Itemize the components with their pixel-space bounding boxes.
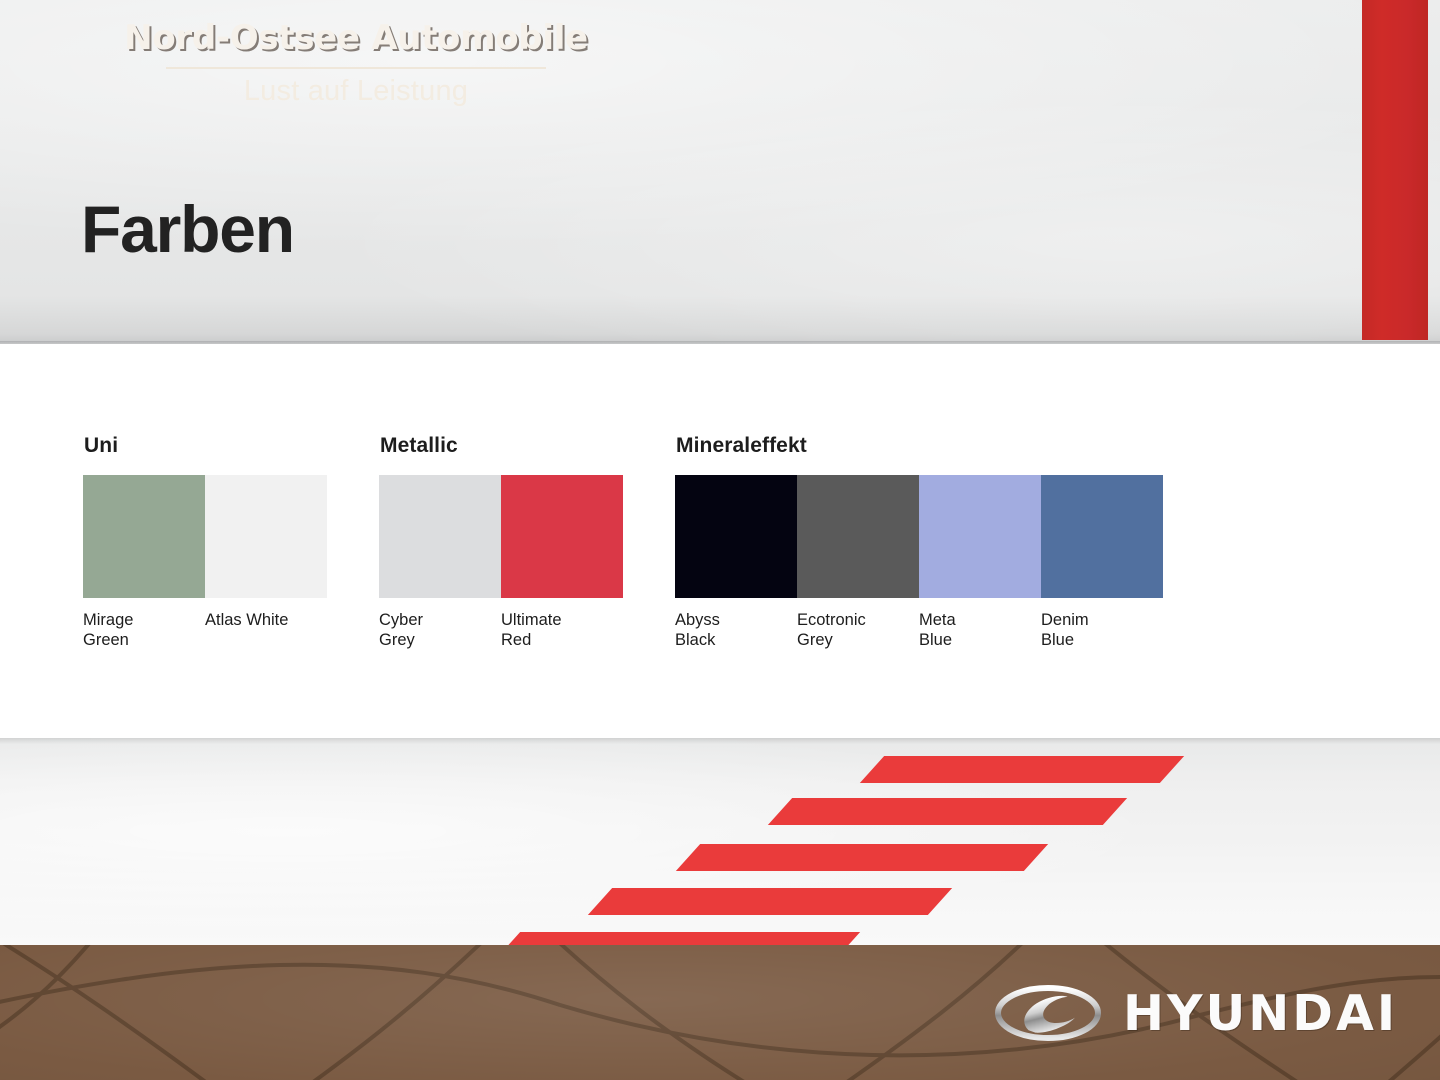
color-name: Ultimate Red bbox=[501, 610, 623, 650]
swatch-item[interactable]: Denim Blue bbox=[1041, 475, 1163, 650]
color-chip[interactable] bbox=[501, 475, 623, 598]
color-chip[interactable] bbox=[797, 475, 919, 598]
dealer-divider bbox=[166, 67, 546, 69]
header-accent-bar bbox=[1362, 0, 1428, 340]
dealer-logo: Nord-Ostsee Automobile Lust auf Leistung bbox=[66, 18, 646, 108]
dealer-name: Nord-Ostsee Automobile bbox=[66, 18, 646, 58]
color-name: Abyss Black bbox=[675, 610, 797, 650]
lower-band bbox=[0, 738, 1440, 945]
color-group-metallic: Metallic Cyber Grey Ultimate Red bbox=[379, 434, 623, 650]
group-title: Metallic bbox=[380, 434, 623, 458]
swatch-row: Mirage Green Atlas White bbox=[83, 475, 327, 650]
color-name: Denim Blue bbox=[1041, 610, 1163, 650]
color-name: Atlas White bbox=[205, 610, 327, 630]
slide-root: Farben Uni Mirage Green Atlas White bbox=[0, 0, 1440, 1080]
color-groups: Uni Mirage Green Atlas White Metallic bbox=[83, 434, 1163, 650]
group-title: Uni bbox=[84, 434, 327, 458]
swatch-row: Cyber Grey Ultimate Red bbox=[379, 475, 623, 650]
color-group-uni: Uni Mirage Green Atlas White bbox=[83, 434, 327, 650]
lower-band-sheen bbox=[0, 738, 1440, 945]
swatch-row: Abyss Black Ecotronic Grey Meta Blue Den… bbox=[675, 475, 1163, 650]
color-chip[interactable] bbox=[1041, 475, 1163, 598]
color-chip[interactable] bbox=[379, 475, 501, 598]
color-chip[interactable] bbox=[675, 475, 797, 598]
dealer-tagline: Lust auf Leistung bbox=[66, 75, 646, 108]
swatch-item[interactable]: Cyber Grey bbox=[379, 475, 501, 650]
color-name: Mirage Green bbox=[83, 610, 205, 650]
color-chip[interactable] bbox=[205, 475, 327, 598]
group-title: Mineraleffekt bbox=[676, 434, 1163, 458]
color-name: Meta Blue bbox=[919, 610, 1041, 650]
color-name: Ecotronic Grey bbox=[797, 610, 919, 650]
swatch-item[interactable]: Abyss Black bbox=[675, 475, 797, 650]
color-chip[interactable] bbox=[83, 475, 205, 598]
content-area: Uni Mirage Green Atlas White Metallic bbox=[0, 344, 1440, 738]
swatch-item[interactable]: Atlas White bbox=[205, 475, 327, 650]
hyundai-wordmark: HYUNDAI bbox=[1123, 989, 1398, 1038]
hyundai-emblem-icon bbox=[995, 985, 1101, 1041]
swatch-item[interactable]: Meta Blue bbox=[919, 475, 1041, 650]
color-group-mineraleffekt: Mineraleffekt Abyss Black Ecotronic Grey… bbox=[675, 434, 1163, 650]
swatch-item[interactable]: Ultimate Red bbox=[501, 475, 623, 650]
color-chip[interactable] bbox=[919, 475, 1041, 598]
hyundai-logo-lockup: HYUNDAI bbox=[995, 985, 1398, 1041]
page-title: Farben bbox=[81, 196, 294, 262]
swatch-item[interactable]: Mirage Green bbox=[83, 475, 205, 650]
color-name: Cyber Grey bbox=[379, 610, 501, 650]
swatch-item[interactable]: Ecotronic Grey bbox=[797, 475, 919, 650]
